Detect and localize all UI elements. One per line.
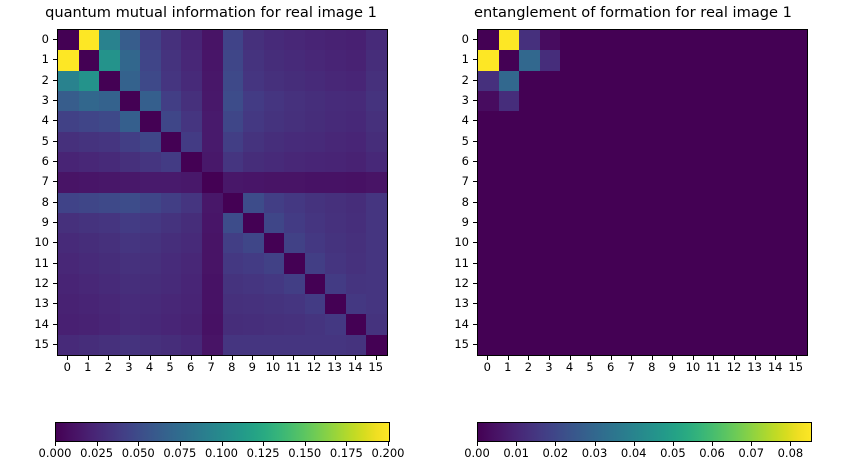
heatmap-cell: [581, 30, 602, 50]
heatmap-cell: [704, 213, 725, 233]
heatmap-cell: [140, 253, 161, 273]
heatmap-cell: [366, 71, 387, 91]
heatmap-cell: [540, 335, 561, 355]
x-tick-mark: [376, 356, 377, 360]
colorbar-tick-mark: [222, 442, 223, 446]
heatmap-cell: [663, 132, 684, 152]
heatmap-cell: [99, 314, 120, 334]
y-tick-label: 3: [19, 94, 49, 106]
y-tick-mark: [473, 39, 477, 40]
heatmap-cell: [284, 253, 305, 273]
heatmap-cell: [120, 213, 141, 233]
heatmap-cell: [181, 71, 202, 91]
x-tick-mark: [108, 356, 109, 360]
heatmap-cell: [284, 274, 305, 294]
x-tick-mark: [693, 356, 694, 360]
heatmap-cell: [766, 50, 787, 70]
heatmap-cell: [305, 172, 326, 192]
heatmap-cell: [663, 91, 684, 111]
heatmap-cell: [346, 152, 367, 172]
heatmap-cell: [519, 30, 540, 50]
y-tick-mark: [473, 283, 477, 284]
colorbar-tick-mark: [516, 442, 517, 446]
heatmap-cell: [325, 274, 346, 294]
y-tick-label: 14: [19, 318, 49, 330]
heatmap-cell: [366, 30, 387, 50]
heatmap-cell: [120, 314, 141, 334]
heatmap-cell: [766, 172, 787, 192]
heatmap-cell: [684, 30, 705, 50]
heatmap-cell: [601, 30, 622, 50]
heatmap-cell: [540, 213, 561, 233]
heatmap-cell: [704, 132, 725, 152]
heatmap-cell: [305, 274, 326, 294]
x-tick-mark: [232, 356, 233, 360]
y-tick-mark: [53, 303, 57, 304]
y-tick-mark: [473, 202, 477, 203]
heatmap-cell: [663, 314, 684, 334]
heatmap-cell: [99, 294, 120, 314]
y-tick-label: 2: [439, 74, 469, 86]
heatmap-cell: [161, 314, 182, 334]
heatmap-cell: [601, 172, 622, 192]
heatmap-cell: [519, 233, 540, 253]
heatmap-cell: [264, 314, 285, 334]
figure-canvas: quantum mutual information for real imag…: [0, 0, 844, 471]
x-tick-mark: [314, 356, 315, 360]
heatmap-cell: [305, 294, 326, 314]
heatmap-cell: [601, 294, 622, 314]
heatmap-cell: [786, 50, 807, 70]
heatmap-cell: [223, 253, 244, 273]
y-tick-label: 7: [439, 175, 469, 187]
heatmap-cell: [745, 233, 766, 253]
heatmap-cell: [540, 30, 561, 50]
heatmap-cell: [745, 193, 766, 213]
colorbar-tick-mark: [305, 442, 306, 446]
heatmap-cell: [325, 335, 346, 355]
heatmap-cell: [346, 253, 367, 273]
heatmap-cell: [120, 91, 141, 111]
heatmap-cell: [99, 71, 120, 91]
heatmap-cell: [581, 253, 602, 273]
heatmap-cell: [560, 274, 581, 294]
heatmap-cell: [181, 253, 202, 273]
heatmap-cell: [704, 274, 725, 294]
heatmap-cell: [284, 172, 305, 192]
y-tick-label: 14: [439, 318, 469, 330]
heatmap-cell: [560, 253, 581, 273]
heatmap-cell: [346, 233, 367, 253]
x-tick-label: 15: [361, 361, 391, 373]
heatmap-cell: [305, 253, 326, 273]
heatmap-cell: [704, 172, 725, 192]
x-tick-mark: [549, 356, 550, 360]
heatmap-cell: [346, 294, 367, 314]
heatmap-cell: [79, 91, 100, 111]
heatmap-cell: [581, 152, 602, 172]
y-tick-mark: [473, 344, 477, 345]
heatmap-cell: [140, 50, 161, 70]
heatmap-cell: [601, 233, 622, 253]
heatmap-cell: [325, 132, 346, 152]
heatmap-cell: [284, 50, 305, 70]
heatmap-cell: [202, 274, 223, 294]
heatmap-cell: [58, 233, 79, 253]
colorbar-tick-mark: [634, 442, 635, 446]
heatmap-cell: [223, 71, 244, 91]
heatmap-cell: [202, 193, 223, 213]
heatmap-cell: [243, 233, 264, 253]
y-tick-mark: [53, 141, 57, 142]
heatmap-cell: [663, 294, 684, 314]
heatmap-cell: [284, 111, 305, 131]
heatmap-cell: [181, 193, 202, 213]
heatmap-cell: [366, 294, 387, 314]
x-tick-mark: [755, 356, 756, 360]
heatmap-cell: [622, 111, 643, 131]
x-tick-mark: [150, 356, 151, 360]
heatmap-cell: [499, 213, 520, 233]
heatmap-cell: [161, 152, 182, 172]
heatmap-cell: [663, 274, 684, 294]
heatmap-cell: [704, 253, 725, 273]
heatmap-cell: [786, 253, 807, 273]
heatmap-quantum-mutual-information[interactable]: [57, 29, 388, 356]
heatmap-cell: [643, 172, 664, 192]
heatmap-cell: [622, 71, 643, 91]
heatmap-cell: [499, 233, 520, 253]
heatmap-cell: [519, 193, 540, 213]
colorbar-tick-mark: [138, 442, 139, 446]
colorbar-tick-label: 0.200: [358, 447, 418, 459]
y-tick-label: 13: [439, 297, 469, 309]
heatmap-entanglement-of-formation[interactable]: [477, 29, 808, 356]
colorbar-tick-mark: [180, 442, 181, 446]
heatmap-cell: [325, 50, 346, 70]
heatmap-cell: [643, 335, 664, 355]
heatmap-cell: [366, 50, 387, 70]
y-tick-mark: [473, 161, 477, 162]
y-tick-label: 11: [439, 257, 469, 269]
heatmap-cell: [181, 213, 202, 233]
heatmap-cell: [181, 111, 202, 131]
y-tick-mark: [53, 263, 57, 264]
heatmap-cell: [223, 233, 244, 253]
colorbar-entanglement-of-formation: [477, 422, 812, 442]
heatmap-cell: [704, 314, 725, 334]
heatmap-cell: [745, 172, 766, 192]
heatmap-cell: [325, 91, 346, 111]
x-tick-mark: [796, 356, 797, 360]
heatmap-cell: [223, 50, 244, 70]
heatmap-cell: [223, 294, 244, 314]
heatmap-cell: [305, 335, 326, 355]
heatmap-cell: [202, 233, 223, 253]
heatmap-cell: [745, 253, 766, 273]
heatmap-cell: [223, 91, 244, 111]
heatmap-cell: [99, 335, 120, 355]
heatmap-cell: [79, 111, 100, 131]
heatmap-cell: [643, 91, 664, 111]
heatmap-cell: [519, 71, 540, 91]
heatmap-cell: [161, 172, 182, 192]
y-tick-mark: [473, 303, 477, 304]
x-tick-mark: [713, 356, 714, 360]
heatmap-cell: [540, 50, 561, 70]
heatmap-cell: [560, 50, 581, 70]
heatmap-cell: [622, 335, 643, 355]
heatmap-cell: [540, 274, 561, 294]
heatmap-cell: [478, 91, 499, 111]
x-tick-mark: [191, 356, 192, 360]
heatmap-cell: [325, 30, 346, 50]
heatmap-cell: [601, 213, 622, 233]
heatmap-cell: [202, 91, 223, 111]
heatmap-cell: [181, 152, 202, 172]
heatmap-cell: [243, 294, 264, 314]
heatmap-cell: [284, 132, 305, 152]
heatmap-cell: [725, 152, 746, 172]
colorbar-tick-mark: [595, 442, 596, 446]
heatmap-cell: [725, 314, 746, 334]
heatmap-cell: [601, 152, 622, 172]
heatmap-cell: [704, 233, 725, 253]
heatmap-cell: [725, 193, 746, 213]
heatmap-cell: [725, 50, 746, 70]
heatmap-cell: [704, 152, 725, 172]
heatmap-cell: [120, 294, 141, 314]
heatmap-cell: [161, 294, 182, 314]
heatmap-cell: [305, 193, 326, 213]
colorbar-tick-label: 0.08: [760, 447, 820, 459]
colorbar-tick-mark: [712, 442, 713, 446]
heatmap-cell: [622, 253, 643, 273]
heatmap-cell: [223, 335, 244, 355]
heatmap-cell: [79, 71, 100, 91]
heatmap-cell: [684, 253, 705, 273]
heatmap-cell: [786, 233, 807, 253]
heatmap-cell: [305, 111, 326, 131]
heatmap-cell: [243, 193, 264, 213]
heatmap-cell: [161, 91, 182, 111]
heatmap-cell: [560, 314, 581, 334]
heatmap-cell: [99, 213, 120, 233]
y-tick-label: 1: [439, 53, 469, 65]
heatmap-cell: [264, 30, 285, 50]
y-tick-label: 9: [439, 216, 469, 228]
heatmap-cell: [601, 274, 622, 294]
heatmap-cell: [745, 71, 766, 91]
heatmap-cell: [202, 132, 223, 152]
heatmap-cell: [79, 274, 100, 294]
heatmap-cell: [325, 152, 346, 172]
heatmap-cell: [663, 253, 684, 273]
heatmap-cell: [181, 294, 202, 314]
heatmap-cell: [79, 30, 100, 50]
heatmap-cell: [366, 253, 387, 273]
heatmap-cell: [601, 314, 622, 334]
heatmap-cell: [663, 172, 684, 192]
heatmap-cell: [181, 132, 202, 152]
heatmap-cell: [181, 172, 202, 192]
heatmap-cell: [704, 91, 725, 111]
heatmap-cell: [519, 91, 540, 111]
heatmap-cell: [622, 314, 643, 334]
y-tick-mark: [53, 344, 57, 345]
heatmap-cell: [560, 172, 581, 192]
x-tick-mark: [88, 356, 89, 360]
heatmap-cell: [745, 111, 766, 131]
heatmap-cell: [264, 172, 285, 192]
heatmap-cell: [786, 132, 807, 152]
heatmap-cell: [581, 132, 602, 152]
heatmap-cell: [786, 274, 807, 294]
heatmap-cell: [704, 30, 725, 50]
heatmap-cell: [120, 233, 141, 253]
heatmap-cell: [305, 50, 326, 70]
heatmap-cell: [58, 294, 79, 314]
heatmap-cell: [540, 294, 561, 314]
y-tick-label: 3: [439, 94, 469, 106]
heatmap-cell: [560, 213, 581, 233]
heatmap-cell: [264, 335, 285, 355]
x-tick-mark: [590, 356, 591, 360]
heatmap-cell: [499, 71, 520, 91]
heatmap-cell: [643, 233, 664, 253]
heatmap-cell: [161, 213, 182, 233]
heatmap-cell: [786, 91, 807, 111]
heatmap-cell: [540, 172, 561, 192]
heatmap-cell: [663, 193, 684, 213]
heatmap-cell: [161, 111, 182, 131]
heatmap-cell: [581, 71, 602, 91]
heatmap-cell: [346, 274, 367, 294]
heatmap-cell: [499, 274, 520, 294]
heatmap-cell: [499, 253, 520, 273]
heatmap-cell: [519, 274, 540, 294]
heatmap-cell: [202, 71, 223, 91]
heatmap-cell: [745, 132, 766, 152]
heatmap-cell: [540, 71, 561, 91]
heatmap-cell: [745, 91, 766, 111]
heatmap-cell: [786, 193, 807, 213]
y-tick-mark: [473, 59, 477, 60]
heatmap-cell: [643, 30, 664, 50]
heatmap-cell: [325, 111, 346, 131]
heatmap-cell: [99, 50, 120, 70]
heatmap-cell: [264, 213, 285, 233]
heatmap-cell: [181, 233, 202, 253]
heatmap-cell: [120, 274, 141, 294]
heatmap-cell: [140, 294, 161, 314]
heatmap-cell: [519, 152, 540, 172]
heatmap-cell: [202, 314, 223, 334]
heatmap-cell: [58, 71, 79, 91]
heatmap-cell: [745, 335, 766, 355]
heatmap-cell: [99, 172, 120, 192]
colorbar-tick-mark: [55, 442, 56, 446]
heatmap-cell: [325, 314, 346, 334]
heatmap-cell: [120, 253, 141, 273]
heatmap-cell: [346, 50, 367, 70]
heatmap-cell: [601, 91, 622, 111]
panel-quantum-mutual-information: quantum mutual information for real imag…: [0, 0, 422, 471]
heatmap-cell: [264, 193, 285, 213]
x-tick-mark: [355, 356, 356, 360]
y-tick-mark: [53, 242, 57, 243]
heatmap-cell: [622, 132, 643, 152]
x-tick-mark: [631, 356, 632, 360]
colorbar-tick-mark: [97, 442, 98, 446]
heatmap-cell: [161, 233, 182, 253]
heatmap-cell: [684, 233, 705, 253]
heatmap-cell: [181, 335, 202, 355]
heatmap-cell: [366, 172, 387, 192]
heatmap-cell: [478, 50, 499, 70]
heatmap-cell: [581, 294, 602, 314]
heatmap-cell: [79, 335, 100, 355]
y-tick-mark: [473, 324, 477, 325]
heatmap-cell: [264, 71, 285, 91]
heatmap-cell: [346, 172, 367, 192]
heatmap-cell: [643, 71, 664, 91]
heatmap-cell: [478, 172, 499, 192]
heatmap-cell: [140, 274, 161, 294]
heatmap-cell: [581, 193, 602, 213]
heatmap-cell: [140, 30, 161, 50]
heatmap-cell: [284, 193, 305, 213]
heatmap-cell: [79, 193, 100, 213]
heatmap-cell: [264, 152, 285, 172]
heatmap-cell: [366, 193, 387, 213]
heatmap-cell: [58, 172, 79, 192]
heatmap-cell: [622, 30, 643, 50]
heatmap-cell: [223, 172, 244, 192]
heatmap-cell: [519, 132, 540, 152]
heatmap-cell: [478, 193, 499, 213]
heatmap-cell: [684, 71, 705, 91]
heatmap-cell: [499, 50, 520, 70]
x-tick-mark: [528, 356, 529, 360]
heatmap-cell: [519, 314, 540, 334]
heatmap-cell: [284, 30, 305, 50]
y-tick-mark: [53, 120, 57, 121]
heatmap-cell: [581, 233, 602, 253]
heatmap-cell: [58, 253, 79, 273]
y-tick-label: 6: [19, 155, 49, 167]
heatmap-cell: [725, 213, 746, 233]
x-tick-mark: [273, 356, 274, 360]
heatmap-cell: [725, 132, 746, 152]
heatmap-cell: [366, 335, 387, 355]
heatmap-cell: [223, 30, 244, 50]
heatmap-cell: [202, 294, 223, 314]
heatmap-cell: [643, 132, 664, 152]
heatmap-cell: [519, 111, 540, 131]
heatmap-cell: [140, 172, 161, 192]
panel-entanglement-of-formation: entanglement of formation for real image…: [422, 0, 844, 471]
colorbar-tick-mark: [790, 442, 791, 446]
heatmap-cell: [643, 314, 664, 334]
y-tick-label: 2: [19, 74, 49, 86]
heatmap-cell: [161, 132, 182, 152]
heatmap-cell: [786, 30, 807, 50]
heatmap-cell: [120, 71, 141, 91]
heatmap-cell: [704, 193, 725, 213]
heatmap-cell: [223, 314, 244, 334]
y-tick-label: 12: [19, 277, 49, 289]
